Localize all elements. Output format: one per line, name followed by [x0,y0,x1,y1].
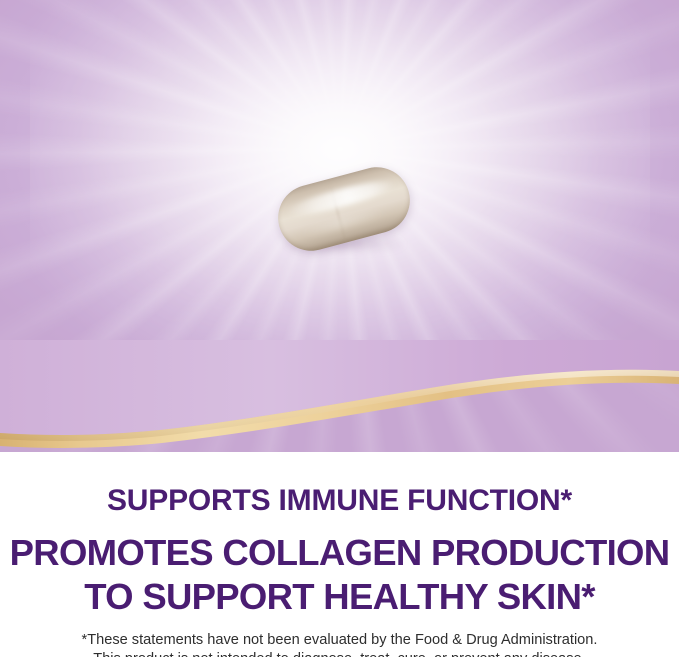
claim-line-collagen: PROMOTES COLLAGEN PRODUCTION [0,535,679,572]
product-marketing-card: SUPPORTS IMMUNE FUNCTION* PROMOTES COLLA… [0,0,679,657]
claim-line-skin: TO SUPPORT HEALTHY SKIN* [0,579,679,616]
disclaimer-line-2: This product is not intended to diagnose… [0,650,679,657]
disclaimer-line-1: *These statements have not been evaluate… [0,631,679,650]
fda-disclaimer: *These statements have not been evaluate… [0,631,679,657]
gold-wave-divider [0,340,679,460]
claims-panel: SUPPORTS IMMUNE FUNCTION* PROMOTES COLLA… [0,452,679,657]
wave-purple-fill [0,340,679,435]
claim-line-immune: SUPPORTS IMMUNE FUNCTION* [0,486,679,516]
